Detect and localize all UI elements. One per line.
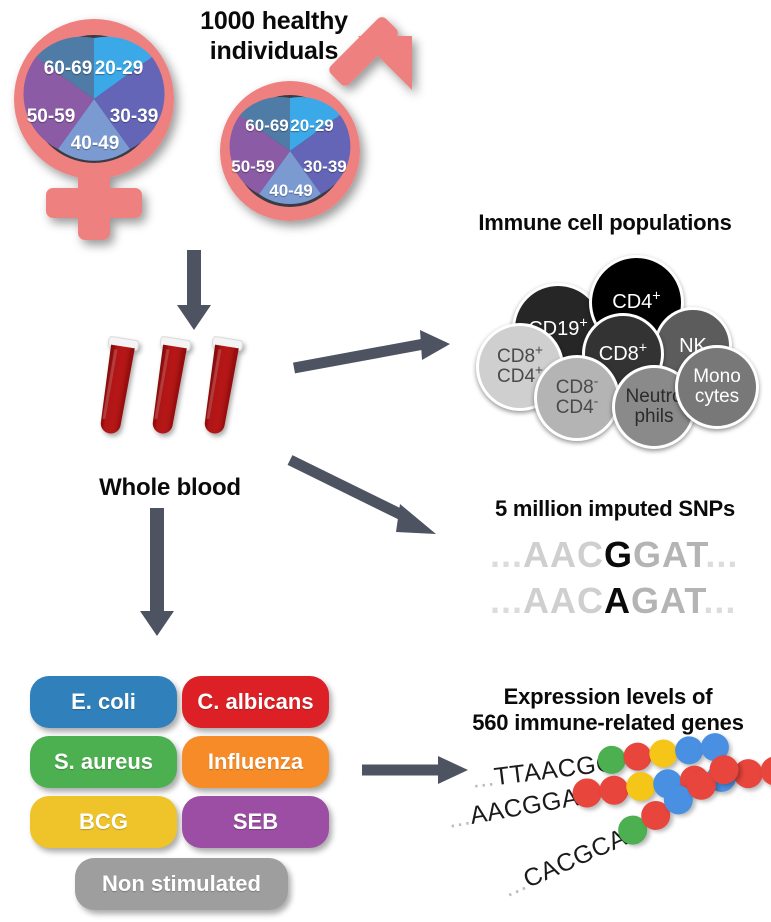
stimulus-pill-label: Influenza (208, 749, 303, 775)
arrow-blood-to-immune (292, 330, 454, 380)
immune-cell-label: CD8- (556, 378, 599, 398)
snp-row-2-suffix: GAT (631, 580, 703, 621)
arrow-blood-to-snp (288, 456, 448, 546)
immune-cell-label: CD4+ (612, 292, 660, 313)
snp-sequence-block: ...AACGGAT... ...AACAGAT... (490, 534, 750, 624)
whole-blood-label: Whole blood (60, 474, 280, 502)
snp-row-1: ...AACGGAT... (490, 534, 738, 576)
snp-row-2-tail: ... (703, 580, 736, 621)
snp-row-1-tail: ... (705, 534, 738, 575)
immune-cell-label: Mono (693, 367, 741, 387)
expression-strands: ...TTAACGG...AACGGAT...CACGCAA (450, 740, 771, 915)
male-gender-symbol: 20-29 30-39 40-49 50-59 60-69 (206, 30, 426, 240)
non-stimulated-pill[interactable]: Non stimulated (75, 858, 288, 910)
non-stimulated-label: Non stimulated (102, 871, 261, 897)
stimuli-panel: E. coliC. albicansS. aureusInfluenzaBCGS… (30, 676, 340, 896)
snp-title: 5 million imputed SNPs (460, 496, 770, 522)
snp-row-1-prefix: AAC (523, 534, 604, 575)
immune-cell-label-line2: phils (625, 407, 682, 427)
stimulus-pill-label: C. albicans (197, 689, 313, 715)
stimulus-pill-label: BCG (79, 809, 128, 835)
stimulus-pill[interactable]: C. albicans (182, 676, 329, 728)
expression-title: Expression levels of 560 immune-related … (452, 684, 764, 736)
stimulus-pill[interactable]: S. aureus (30, 736, 177, 788)
immune-cell: CD8-CD4- (534, 355, 620, 441)
immune-cell-label-line2: cytes (693, 387, 741, 407)
snp-row-2: ...AACAGAT... (490, 580, 736, 622)
arrow-blood-to-stimuli (135, 508, 179, 638)
immune-cell-cluster: CD19+CD4+NKCD8+CD4+CD8+CD8-CD4-Neutrophi… (472, 245, 762, 425)
stimulus-pill-label: SEB (233, 809, 278, 835)
whole-blood-tubes (96, 336, 261, 461)
snp-row-2-variant: A (604, 580, 631, 621)
stimulus-pill[interactable]: E. coli (30, 676, 177, 728)
immune-populations-title: Immune cell populations (445, 210, 765, 236)
arrow-cohort-to-blood (172, 250, 216, 332)
stimulus-pill-label: E. coli (71, 689, 136, 715)
immune-cell-label: CD8+ (599, 344, 647, 365)
snp-row-2-prefix: AAC (523, 580, 604, 621)
stimulus-pill[interactable]: BCG (30, 796, 177, 848)
snp-row-2-lead: ... (490, 580, 523, 621)
snp-row-1-variant: G (604, 534, 633, 575)
immune-cell-label-line2: CD4- (556, 398, 599, 418)
gene-expression-bead (624, 770, 658, 804)
snp-row-1-lead: ... (490, 534, 523, 575)
immune-cell-label: Neutro (625, 387, 682, 407)
snp-row-1-suffix: GAT (633, 534, 705, 575)
expression-title-line1: Expression levels of (452, 684, 764, 710)
stimulus-pill[interactable]: Influenza (182, 736, 329, 788)
stimulus-pill[interactable]: SEB (182, 796, 329, 848)
female-gender-symbol: 20-29 30-39 40-49 50-59 60-69 (6, 10, 186, 245)
gene-expression-bead (597, 773, 631, 807)
immune-cell: Monocytes (675, 345, 759, 429)
stimulus-pill-label: S. aureus (54, 749, 153, 775)
